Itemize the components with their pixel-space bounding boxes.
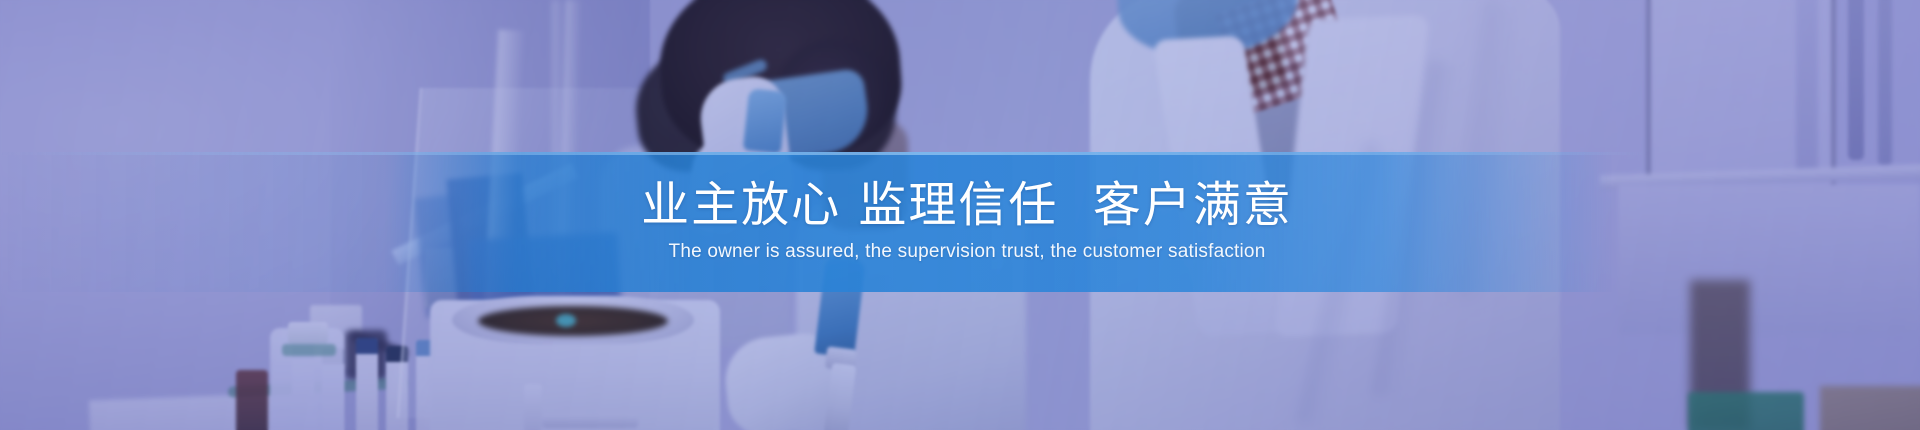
- subheadline-english: The owner is assured, the supervision tr…: [655, 240, 1266, 265]
- hero-banner: 业主放心 监理信任 客户满意 The owner is assured, the…: [0, 0, 1920, 430]
- headline-chinese: 业主放心 监理信任 客户满意: [627, 180, 1293, 232]
- caption-text-block: 业主放心 监理信任 客户满意 The owner is assured, the…: [0, 152, 1920, 292]
